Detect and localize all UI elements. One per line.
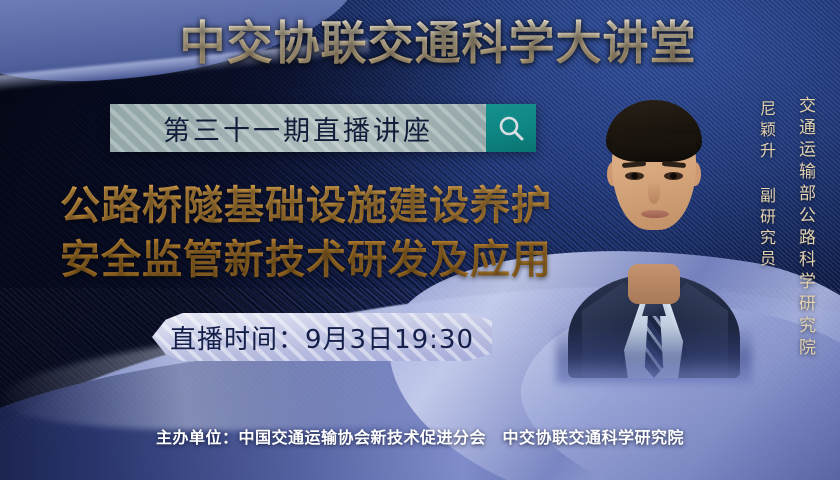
webinar-poster: 中交协联交通科学大讲堂 中交协联交通科学大讲堂 第三十一期直播讲座 公路桥隧基础… [0,0,840,480]
session-banner-label: 第三十一期直播讲座 [163,109,433,148]
lecture-headline: 公路桥隧基础设施建设养护 安全监管新技术研发及应用 [32,180,580,286]
portrait-mouth [641,210,669,218]
portrait-hair [606,100,702,162]
speaker-portrait [566,78,742,378]
broadcast-time-badge: 直播时间：9月3日19:30 [152,313,492,361]
portrait-bottom-fade [556,324,752,384]
portrait-eye-right [664,172,683,180]
speaker-name-title: 尼颖升 副研究员 [754,100,778,271]
speaker-organization: 交通运输部公路科学研究院 [793,96,818,360]
portrait-neck [628,264,680,304]
organizer-footer: 主办单位：中国交通运输协会新技术促进分会 中交协联交通科学研究院 [0,424,840,448]
portrait-eye-left [625,172,644,180]
session-banner-body: 第三十一期直播讲座 [110,104,486,152]
session-banner: 第三十一期直播讲座 [110,104,536,152]
header-title: 中交协联交通科学大讲堂 [0,18,840,69]
lecture-headline-line-2: 安全监管新技术研发及应用 [32,234,580,286]
search-icon[interactable] [486,104,536,152]
portrait-nose [648,182,660,204]
broadcast-time-label: 直播时间：9月3日19:30 [170,319,474,356]
lecture-headline-line-1: 公路桥隧基础设施建设养护 [32,180,580,232]
